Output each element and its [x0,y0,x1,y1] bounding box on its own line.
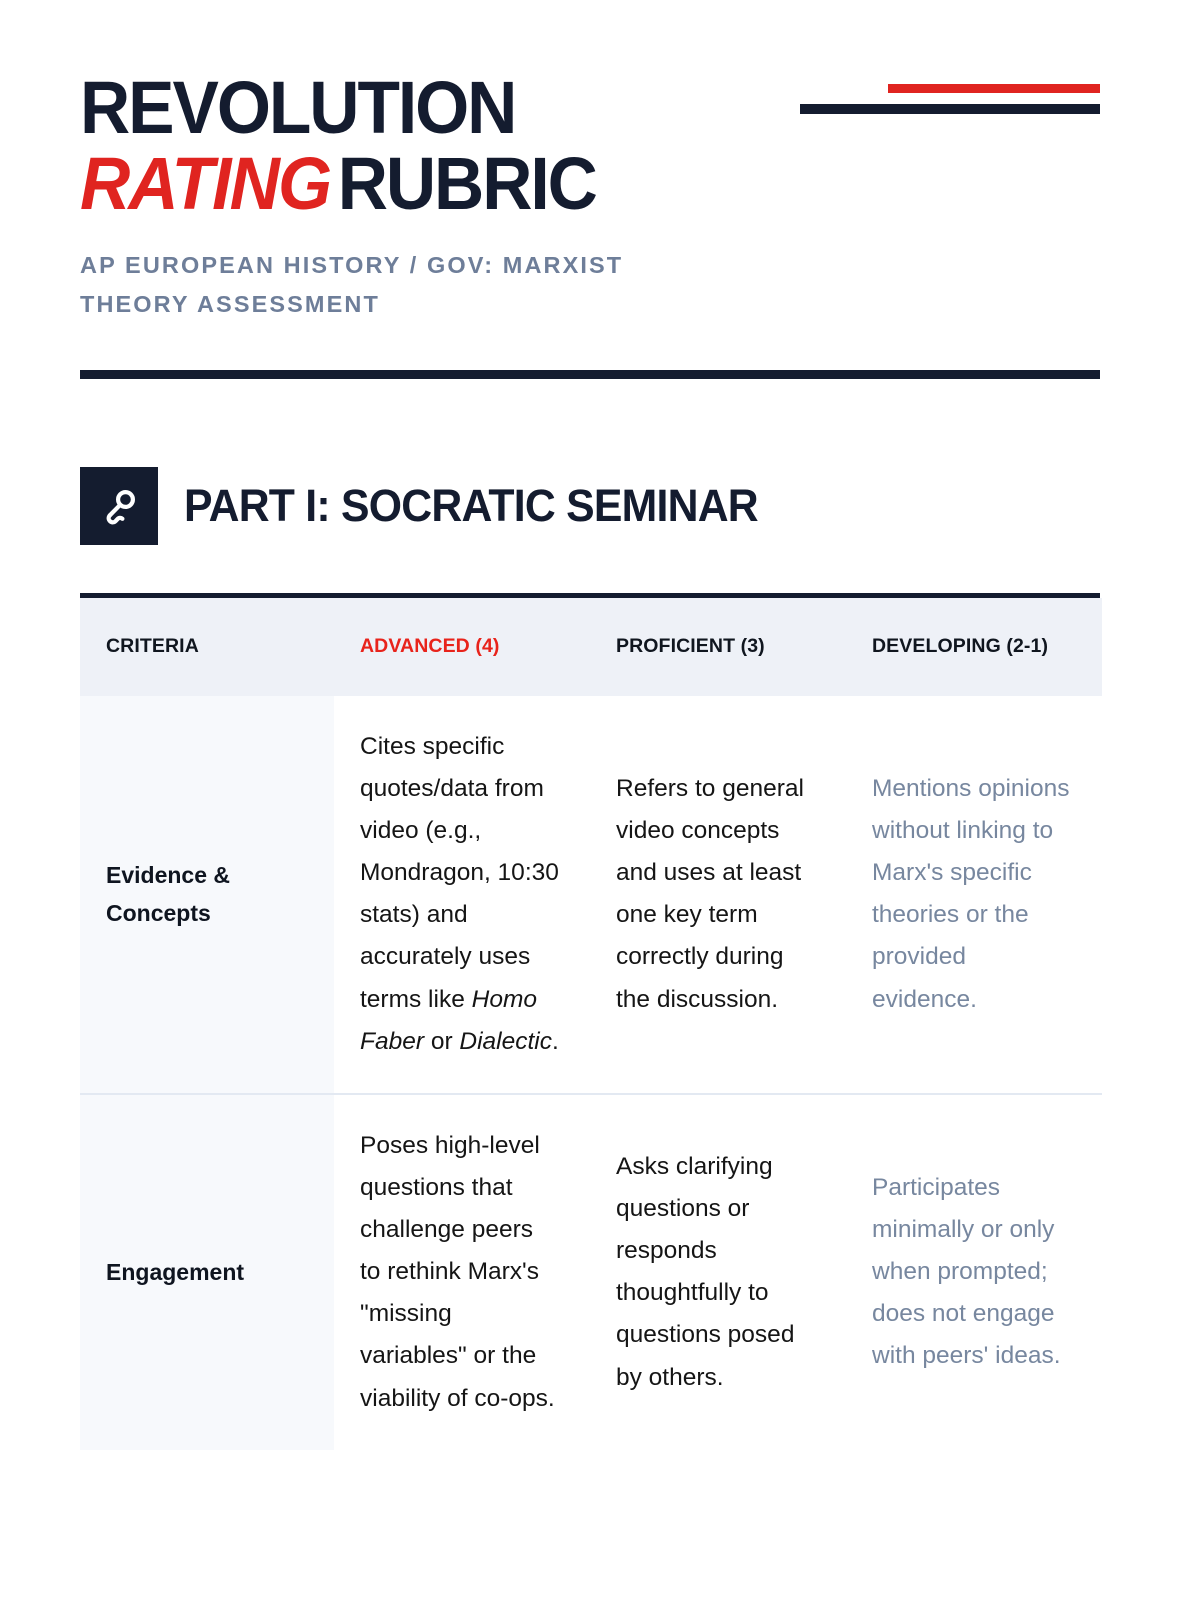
rubric-table-head: CRITERIA ADVANCED (4) PROFICIENT (3) DEV… [80,598,1102,695]
advanced-text-post: . [552,1028,559,1055]
table-header-row: CRITERIA ADVANCED (4) PROFICIENT (3) DEV… [80,598,1102,695]
advanced-term-dialectic: Dialectic [459,1028,552,1055]
section-title: PART I: SOCRATIC SEMINAR [184,480,758,532]
page-title-rating-word: RATING [80,142,338,225]
header-divider-rule [80,370,1100,379]
cell-advanced-descriptor: Poses high-level questions that challeng… [334,1094,590,1450]
cell-proficient-descriptor: Refers to general video concepts and use… [590,696,846,1094]
column-header-criteria: CRITERIA [80,598,334,695]
document-subtitle: AP EUROPEAN HISTORY / GOV: MARXIST THEOR… [80,246,720,325]
rubric-table: CRITERIA ADVANCED (4) PROFICIENT (3) DEV… [80,598,1102,1449]
cell-criteria-label: Evidence & Concepts [80,696,334,1094]
advanced-text-mid: or [424,1028,459,1055]
microphone-icon [80,467,158,545]
column-header-developing: DEVELOPING (2-1) [846,598,1102,695]
column-header-proficient: PROFICIENT (3) [590,598,846,695]
page-title-line-2: RATINGRUBRIC [80,148,1039,220]
page-title-line-1: REVOLUTION [80,72,1039,144]
advanced-text-pre: Cites specific quotes/data from video (e… [360,733,559,1013]
section-heading: PART I: SOCRATIC SEMINAR [80,467,1100,545]
cell-advanced-descriptor: Cites specific quotes/data from video (e… [334,696,590,1094]
rubric-table-body: Evidence & Concepts Cites specific quote… [80,696,1102,1450]
rubric-document-page: REVOLUTION RATINGRUBRIC AP EUROPEAN HIST… [0,0,1200,1600]
cell-developing-descriptor: Participates minimally or only when prom… [846,1094,1102,1450]
column-header-advanced: ADVANCED (4) [334,598,590,695]
cell-criteria-label: Engagement [80,1094,334,1450]
cell-developing-descriptor: Mentions opinions without linking to Mar… [846,696,1102,1094]
table-row: Engagement Poses high-level questions th… [80,1094,1102,1450]
cell-proficient-descriptor: Asks clarifying questions or responds th… [590,1094,846,1450]
rubric-table-container: CRITERIA ADVANCED (4) PROFICIENT (3) DEV… [80,593,1100,1449]
page-title-rubric-word: RUBRIC [338,142,596,225]
document-header: REVOLUTION RATINGRUBRIC AP EUROPEAN HIST… [0,0,1200,324]
table-row: Evidence & Concepts Cites specific quote… [80,696,1102,1094]
document-title-block: REVOLUTION RATINGRUBRIC [80,72,1100,220]
section-part-1: PART I: SOCRATIC SEMINAR CRITERIA ADVANC… [0,467,1200,1449]
